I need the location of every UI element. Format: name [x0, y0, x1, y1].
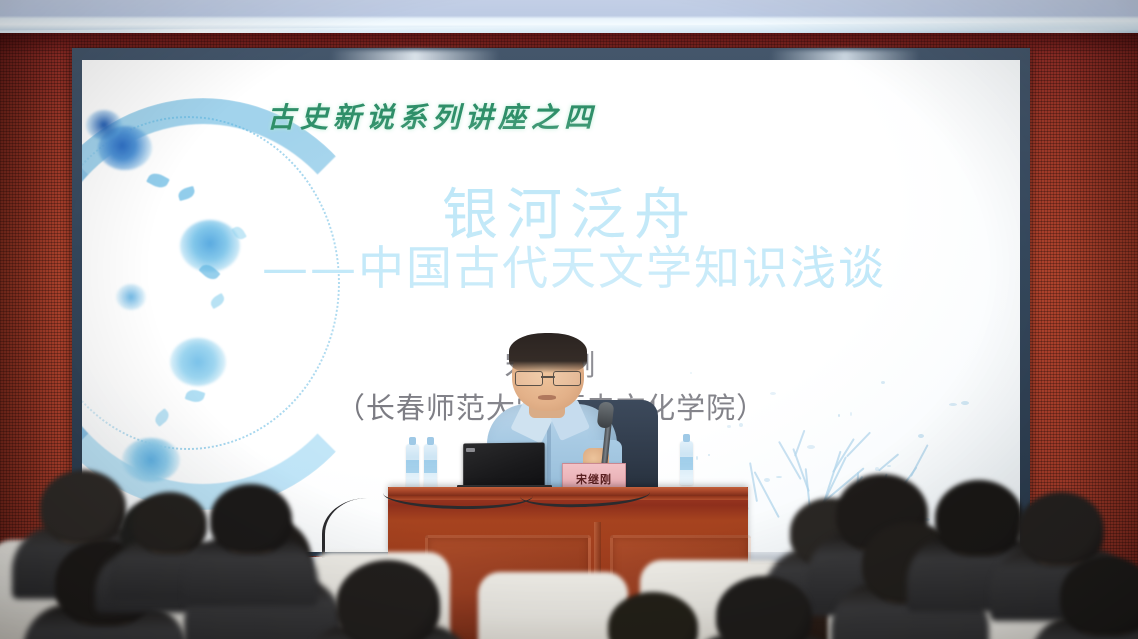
ink-speck: [696, 456, 698, 460]
laptop-logo: [466, 448, 475, 452]
ink-twig: [910, 444, 928, 477]
glasses-lens-right: [553, 371, 581, 386]
ink-speck: [887, 465, 891, 467]
audience-chair: [478, 572, 628, 639]
bottle-label: [680, 457, 693, 470]
ink-speck: [918, 434, 924, 438]
presenter-mouth: [538, 395, 556, 400]
ink-speck: [776, 476, 782, 478]
porcelain-bloom: [180, 220, 240, 272]
ink-twig: [749, 462, 758, 502]
ink-twig: [878, 453, 899, 471]
audience-member-head: [336, 560, 440, 639]
bottle-label: [406, 460, 419, 473]
water-bottle: [680, 441, 693, 485]
audience-member-head: [1018, 492, 1104, 566]
audience-member-head: [1060, 556, 1138, 636]
glasses-icon: [515, 371, 581, 384]
ink-speck: [807, 445, 815, 449]
audience-member-head: [935, 480, 1023, 556]
audience-member-head: [40, 470, 126, 544]
porcelain-bloom: [86, 110, 122, 140]
presenter-hair: [509, 333, 587, 373]
ink-speck: [708, 454, 710, 456]
slide-subtitle: ——中国古代天文学知识浅谈: [262, 232, 1020, 298]
audience-member-head: [133, 492, 207, 554]
slide-kicker: 古史新说系列讲座之四: [267, 96, 687, 136]
lecture-hall-photo: 古史新说系列讲座之四 银河泛舟 ——中国古代天文学知识浅谈 宋继刚 （长春师范大…: [0, 0, 1138, 639]
bottle-label: [424, 460, 437, 473]
glasses-lens-left: [515, 371, 543, 386]
ink-twig: [832, 438, 855, 473]
porcelain-bloom: [122, 438, 180, 482]
audience-member-head: [210, 484, 292, 554]
ink-speck: [875, 467, 879, 471]
ink-twig: [794, 430, 805, 457]
porcelain-bloom: [116, 284, 146, 310]
ink-speck: [764, 478, 770, 482]
